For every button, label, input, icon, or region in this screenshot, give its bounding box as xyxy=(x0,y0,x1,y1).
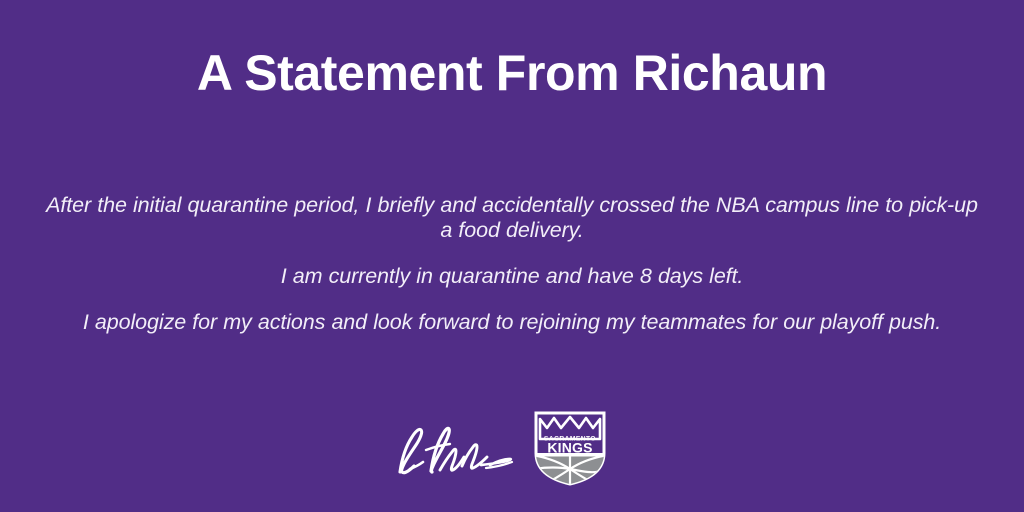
statement-paragraph-2: I am currently in quarantine and have 8 … xyxy=(42,264,982,289)
statement-graphic: A Statement From Richaun After the initi… xyxy=(0,0,1024,512)
basketball-base xyxy=(532,453,608,487)
signature-image xyxy=(386,414,518,486)
sacramento-kings-logo: SACRAMENTO KINGS xyxy=(532,409,608,487)
page-title: A Statement From Richaun xyxy=(0,47,1024,100)
footer: SACRAMENTO KINGS xyxy=(0,400,1024,496)
statement-paragraph-1: After the initial quarantine period, I b… xyxy=(42,193,982,243)
statement-paragraph-3: I apologize for my actions and look forw… xyxy=(42,310,982,335)
logo-team-text: KINGS xyxy=(547,440,592,456)
statement-body: After the initial quarantine period, I b… xyxy=(42,193,982,335)
